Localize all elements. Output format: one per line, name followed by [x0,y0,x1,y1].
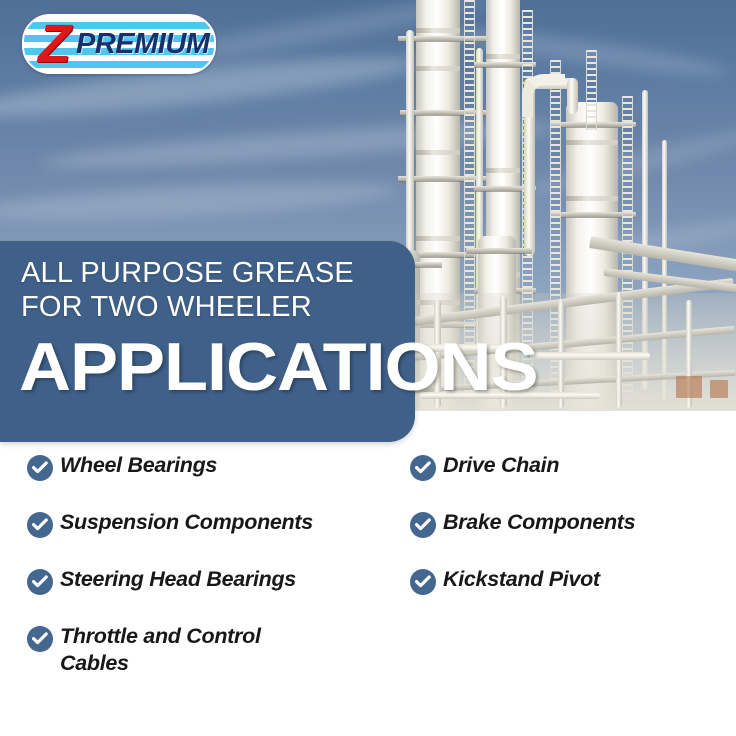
cloud-wisp [0,175,400,227]
list-item-label: Brake Components [443,509,736,536]
list-item-label: Drive Chain [443,452,736,479]
headline-line-2: FOR TWO WHEELER [21,290,401,324]
logo-z-mark: Z [38,17,69,71]
applications-list: Wheel Bearings Suspension Components Ste… [0,452,736,736]
list-item-label: Steering Head Bearings [60,566,407,593]
headline-line-1: ALL PURPOSE GREASE [21,256,401,290]
headline-banner: ALL PURPOSE GREASE FOR TWO WHEELER APPLI… [0,241,415,442]
brand-logo[interactable]: Z PREMIUM [22,14,216,74]
list-item-label: Suspension Components [60,509,407,536]
check-circle-icon [27,455,53,481]
list-item-label: Throttle and Control Cables [60,623,332,677]
check-circle-icon [27,512,53,538]
applications-right-column: Drive Chain Brake Components Kickstand P… [410,452,736,623]
check-circle-icon [27,569,53,595]
check-circle-icon [410,569,436,595]
check-circle-icon [410,512,436,538]
applications-left-column: Wheel Bearings Suspension Components Ste… [27,452,407,680]
check-circle-icon [27,626,53,652]
list-item: Wheel Bearings [27,452,407,509]
headline-block: ALL PURPOSE GREASE FOR TWO WHEELER [21,256,401,324]
list-item: Suspension Components [27,509,407,566]
logo-wordmark: PREMIUM [76,29,209,59]
list-item-label: Kickstand Pivot [443,566,736,593]
check-circle-icon [410,455,436,481]
list-item-label: Wheel Bearings [60,452,407,479]
list-item: Steering Head Bearings [27,566,407,623]
poster-canvas: Z PREMIUM ALL PURPOSE GREASE FOR TWO WHE… [0,0,736,736]
list-item: Throttle and Control Cables [27,623,407,680]
list-item: Drive Chain [410,452,736,509]
list-item: Brake Components [410,509,736,566]
list-item: Kickstand Pivot [410,566,736,623]
headline-emphasis: APPLICATIONS [19,333,538,401]
